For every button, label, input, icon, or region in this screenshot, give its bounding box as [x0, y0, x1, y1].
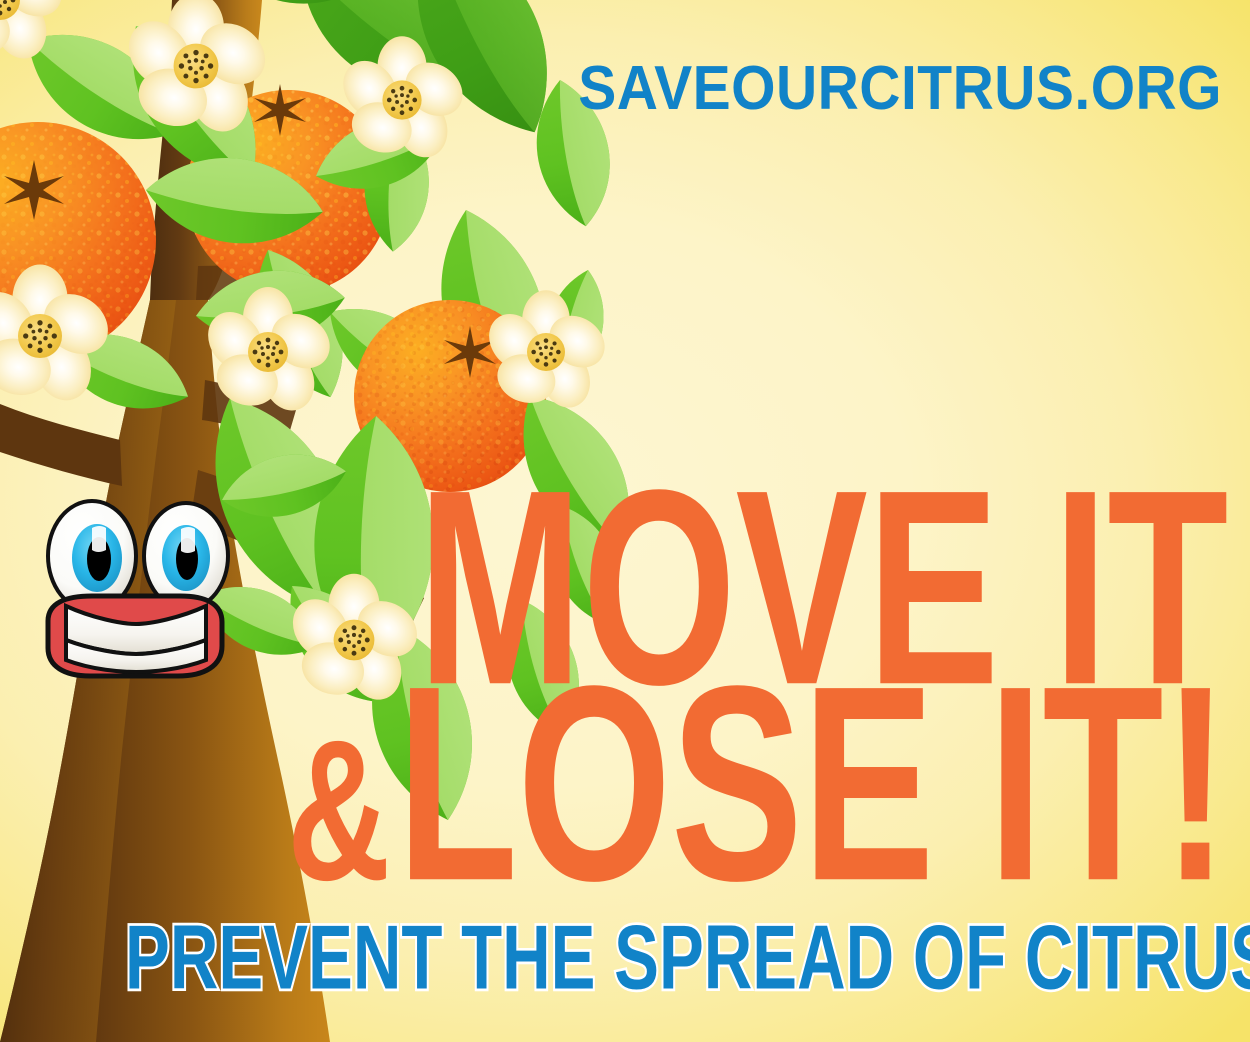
tagline: PREVENT THE SPREAD OF CITRUS DISEASES	[125, 912, 1125, 1003]
headline-line-2-text: LOSE IT!	[397, 627, 1228, 938]
tagline-text: PREVENT THE SPREAD OF CITRUS DISEASES	[125, 907, 1250, 1009]
headline-line-2: &LOSE IT!	[287, 672, 1228, 894]
website-url[interactable]: SAVEOURCITRUS.ORG	[98, 58, 1222, 120]
poster-canvas: SAVEOURCITRUS.ORG MOVE IT &LOSE IT! PREV…	[0, 0, 1250, 1042]
headline-ampersand: &	[287, 730, 397, 890]
poster-text-layer: SAVEOURCITRUS.ORG MOVE IT &LOSE IT! PREV…	[0, 0, 1250, 1042]
